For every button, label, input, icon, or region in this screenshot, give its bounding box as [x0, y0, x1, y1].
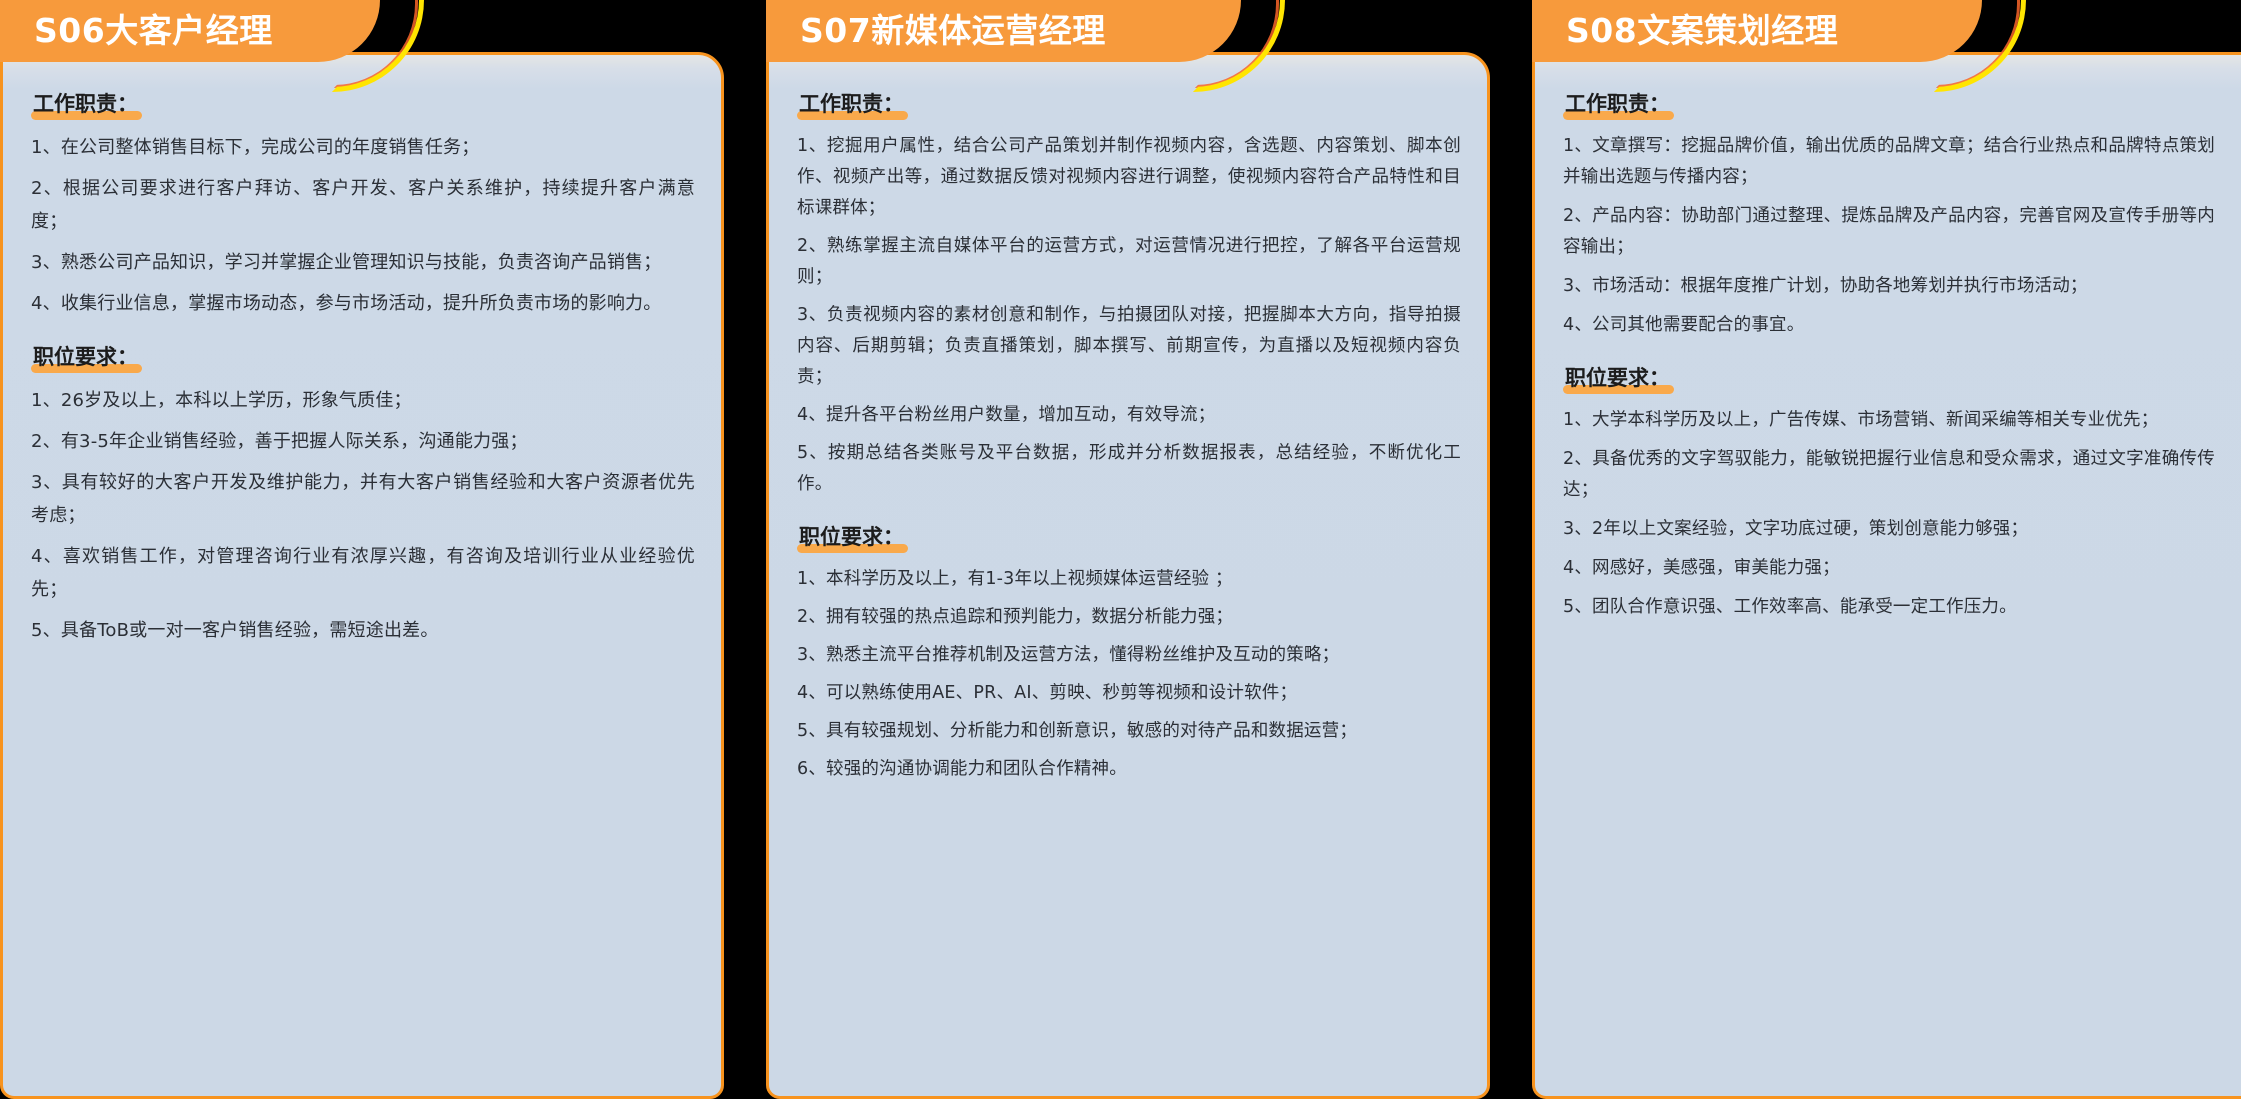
section-heading: 工作职责：	[1563, 89, 1674, 119]
list-item: 1、文章撰写：挖掘品牌价值，输出优质的品牌文章；结合行业热点和品牌特点策划并输出…	[1563, 131, 2215, 193]
requirement-list: 1、26岁及以上，本科以上学历，形象气质佳； 2、有3-5年企业销售经验，善于把…	[31, 384, 695, 647]
job-card-body-s08: 工作职责： 1、文章撰写：挖掘品牌价值，输出优质的品牌文章；结合行业热点和品牌特…	[1532, 52, 2241, 1099]
job-card-s08: S08文案策划经理 工作职责： 1、文章撰写：挖掘品牌价值，输出优质的品牌文章；…	[1532, 0, 2241, 1099]
list-item: 2、有3-5年企业销售经验，善于把握人际关系，沟通能力强；	[31, 425, 695, 458]
requirement-list: 1、大学本科学历及以上，广告传媒、市场营销、新闻采编等相关专业优先； 2、具备优…	[1563, 405, 2215, 623]
job-card-header-s07: S07新媒体运营经理	[766, 0, 1241, 62]
list-item: 1、大学本科学历及以上，广告传媒、市场营销、新闻采编等相关专业优先；	[1563, 405, 2215, 436]
section-responsibilities: 工作职责： 1、文章撰写：挖掘品牌价值，输出优质的品牌文章；结合行业热点和品牌特…	[1563, 89, 2215, 341]
job-title: S06大客户经理	[34, 0, 273, 62]
section-heading: 工作职责：	[797, 89, 908, 119]
job-card-s06: S06大客户经理 工作职责： 1、在公司整体销售目标下，完成公司的年度销售任务；…	[0, 0, 724, 1099]
list-item: 4、公司其他需要配合的事宜。	[1563, 310, 2215, 341]
list-item: 4、喜欢销售工作，对管理咨询行业有浓厚兴趣，有咨询及培训行业从业经验优先；	[31, 540, 695, 606]
list-item: 2、根据公司要求进行客户拜访、客户开发、客户关系维护，持续提升客户满意度；	[31, 172, 695, 238]
list-item: 2、具备优秀的文字驾驭能力，能敏锐把握行业信息和受众需求，通过文字准确传传达；	[1563, 444, 2215, 506]
responsibility-list: 1、文章撰写：挖掘品牌价值，输出优质的品牌文章；结合行业热点和品牌特点策划并输出…	[1563, 131, 2215, 341]
job-title: S07新媒体运营经理	[800, 0, 1106, 62]
list-item: 3、熟悉主流平台推荐机制及运营方法，懂得粉丝维护及互动的策略；	[797, 640, 1461, 671]
list-item: 6、较强的沟通协调能力和团队合作精神。	[797, 754, 1461, 785]
responsibility-list: 1、挖掘用户属性，结合公司产品策划并制作视频内容，含选题、内容策划、脚本创作、视…	[797, 131, 1461, 500]
section-requirements: 职位要求： 1、26岁及以上，本科以上学历，形象气质佳； 2、有3-5年企业销售…	[31, 342, 695, 647]
list-item: 3、负责视频内容的素材创意和制作，与拍摄团队对接，把握脚本大方向，指导拍摄内容、…	[797, 300, 1461, 393]
list-item: 2、拥有较强的热点追踪和预判能力，数据分析能力强；	[797, 602, 1461, 633]
list-item: 2、熟练掌握主流自媒体平台的运营方式，对运营情况进行把控，了解各平台运营规则；	[797, 231, 1461, 293]
job-postings-board: S06大客户经理 工作职责： 1、在公司整体销售目标下，完成公司的年度销售任务；…	[0, 0, 2241, 1099]
list-item: 1、在公司整体销售目标下，完成公司的年度销售任务；	[31, 131, 695, 164]
responsibility-list: 1、在公司整体销售目标下，完成公司的年度销售任务； 2、根据公司要求进行客户拜访…	[31, 131, 695, 320]
list-item: 4、可以熟练使用AE、PR、AI、剪映、秒剪等视频和设计软件；	[797, 678, 1461, 709]
job-card-header-s06: S06大客户经理	[0, 0, 380, 62]
list-item: 1、本科学历及以上，有1-3年以上视频媒体运营经验 ；	[797, 564, 1461, 595]
section-requirements: 职位要求： 1、大学本科学历及以上，广告传媒、市场营销、新闻采编等相关专业优先；…	[1563, 363, 2215, 623]
list-item: 4、网感好，美感强，审美能力强；	[1563, 553, 2215, 584]
list-item: 3、熟悉公司产品知识，学习并掌握企业管理知识与技能，负责咨询产品销售；	[31, 246, 695, 279]
list-item: 5、按期总结各类账号及平台数据，形成并分析数据报表，总结经验，不断优化工作。	[797, 438, 1461, 500]
section-requirements: 职位要求： 1、本科学历及以上，有1-3年以上视频媒体运营经验 ； 2、拥有较强…	[797, 522, 1461, 785]
job-card-body-s06: 工作职责： 1、在公司整体销售目标下，完成公司的年度销售任务； 2、根据公司要求…	[0, 52, 724, 1099]
list-item: 1、26岁及以上，本科以上学历，形象气质佳；	[31, 384, 695, 417]
list-item: 1、挖掘用户属性，结合公司产品策划并制作视频内容，含选题、内容策划、脚本创作、视…	[797, 131, 1461, 224]
section-heading: 职位要求：	[797, 522, 908, 552]
section-heading: 工作职责：	[31, 89, 142, 119]
job-title: S08文案策划经理	[1566, 0, 1838, 62]
list-item: 4、提升各平台粉丝用户数量，增加互动，有效导流；	[797, 400, 1461, 431]
section-responsibilities: 工作职责： 1、挖掘用户属性，结合公司产品策划并制作视频内容，含选题、内容策划、…	[797, 89, 1461, 500]
list-item: 3、市场活动：根据年度推广计划，协助各地筹划并执行市场活动；	[1563, 271, 2215, 302]
list-item: 4、收集行业信息，掌握市场动态，参与市场活动，提升所负责市场的影响力。	[31, 287, 695, 320]
list-item: 5、团队合作意识强、工作效率高、能承受一定工作压力。	[1563, 592, 2215, 623]
job-card-s07: S07新媒体运营经理 工作职责： 1、挖掘用户属性，结合公司产品策划并制作视频内…	[766, 0, 1490, 1099]
list-item: 2、产品内容：协助部门通过整理、提炼品牌及产品内容，完善官网及宣传手册等内容输出…	[1563, 201, 2215, 263]
list-item: 5、具备ToB或一对一客户销售经验，需短途出差。	[31, 614, 695, 647]
list-item: 3、2年以上文案经验，文字功底过硬，策划创意能力够强；	[1563, 514, 2215, 545]
section-responsibilities: 工作职责： 1、在公司整体销售目标下，完成公司的年度销售任务； 2、根据公司要求…	[31, 89, 695, 320]
job-card-body-s07: 工作职责： 1、挖掘用户属性，结合公司产品策划并制作视频内容，含选题、内容策划、…	[766, 52, 1490, 1099]
requirement-list: 1、本科学历及以上，有1-3年以上视频媒体运营经验 ； 2、拥有较强的热点追踪和…	[797, 564, 1461, 785]
list-item: 5、具有较强规划、分析能力和创新意识，敏感的对待产品和数据运营；	[797, 716, 1461, 747]
section-heading: 职位要求：	[1563, 363, 1674, 393]
job-card-header-s08: S08文案策划经理	[1532, 0, 1982, 62]
list-item: 3、具有较好的大客户开发及维护能力，并有大客户销售经验和大客户资源者优先考虑；	[31, 466, 695, 532]
section-heading: 职位要求：	[31, 342, 142, 372]
